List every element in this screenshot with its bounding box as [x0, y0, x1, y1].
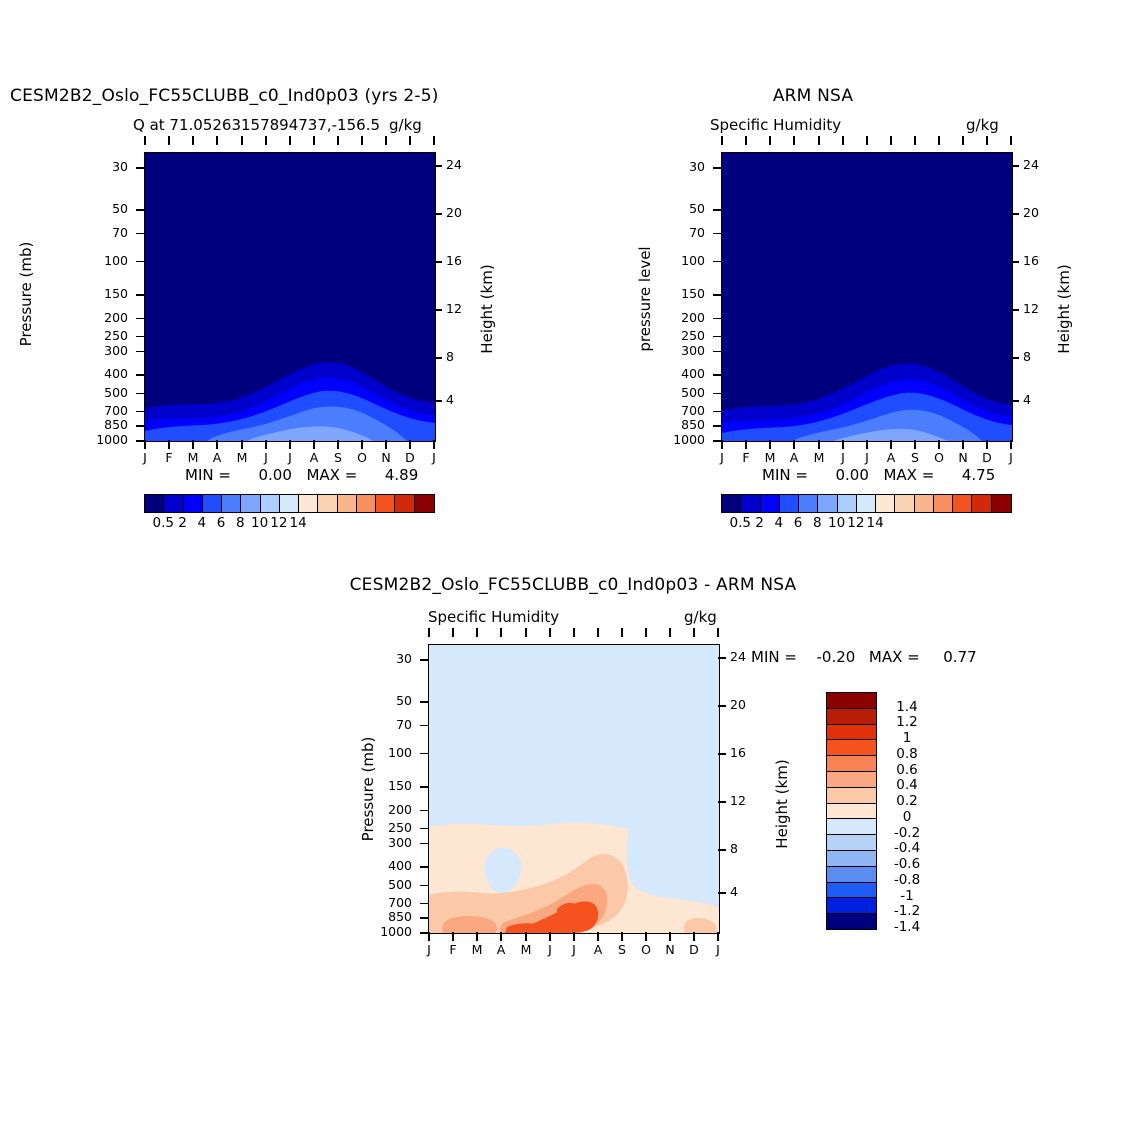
- top-right-plot-area: [721, 152, 1013, 442]
- colorbar-segment: [827, 788, 876, 804]
- colorbar-tick-label: -0.8: [880, 872, 934, 888]
- top-right-max-value: 4.75: [962, 466, 995, 484]
- colorbar-segment: [827, 725, 876, 741]
- difference-plot-area: [428, 644, 720, 934]
- colorbar-segment: [876, 495, 895, 512]
- colorbar-tick-label: -0.4: [880, 840, 934, 856]
- top-left-min-label: MIN =: [185, 466, 231, 484]
- colorbar-segment: [827, 835, 876, 851]
- colorbar-segment: [827, 804, 876, 820]
- colorbar-segment: [338, 495, 357, 512]
- colorbar-segment: [827, 772, 876, 788]
- top-right-ylabel: pressure level: [636, 234, 654, 364]
- top-right-colorbar-segments: [722, 495, 1011, 512]
- colorbar-segment: [780, 495, 799, 512]
- colorbar-tick-label: -1: [880, 888, 934, 904]
- colorbar-tick-label: 0.4: [880, 777, 934, 793]
- top-left-contour-field: [145, 153, 435, 441]
- colorbar-segment: [415, 495, 434, 512]
- top-left-plot-area: [144, 152, 436, 442]
- top-right-subtitle-left: Specific Humidity: [710, 116, 841, 134]
- colorbar-segment: [972, 495, 991, 512]
- colorbar-tick-label: -0.2: [880, 825, 934, 841]
- top-right-max-label: MAX =: [883, 466, 934, 484]
- colorbar-segment: [741, 495, 760, 512]
- top-left-colorbar-segments: [145, 495, 434, 512]
- top-left-title: CESM2B2_Oslo_FC55CLUBB_c0_Ind0p03 (yrs 2…: [10, 86, 439, 106]
- difference-colorbar-segments: [827, 693, 876, 929]
- colorbar-segment: [184, 495, 203, 512]
- difference-contour-field: [429, 645, 719, 933]
- colorbar-segment: [838, 495, 857, 512]
- top-right-subtitle-right: g/kg: [966, 116, 999, 134]
- top-left-subtitle-left: Q at 71.05263157894737,-156.5: [133, 116, 380, 134]
- difference-colorbar[interactable]: [826, 692, 877, 930]
- colorbar-segment: [145, 495, 164, 512]
- top-left-minmax: MIN = 0.00 MAX = 4.89: [185, 466, 418, 484]
- colorbar-segment: [164, 495, 183, 512]
- top-left-subtitle-right: g/kg: [389, 116, 422, 134]
- colorbar-segment: [827, 709, 876, 725]
- colorbar-tick-label: 0.8: [880, 746, 934, 762]
- colorbar-segment: [261, 495, 280, 512]
- top-right-colorbar-labels: 0.52468101214: [721, 515, 1010, 535]
- colorbar-segment: [915, 495, 934, 512]
- colorbar-segment: [299, 495, 318, 512]
- top-left-colorbar-labels: 0.52468101214: [144, 515, 433, 535]
- colorbar-tick-label: 14: [275, 515, 321, 531]
- difference-max-value: 0.77: [943, 648, 976, 666]
- colorbar-segment: [203, 495, 222, 512]
- colorbar-tick-label: 1: [880, 730, 934, 746]
- colorbar-segment: [357, 495, 376, 512]
- colorbar-tick-label: 1.4: [880, 699, 934, 715]
- colorbar-segment: [934, 495, 953, 512]
- top-left-ylabel: Pressure (mb): [17, 234, 35, 354]
- colorbar-segment: [241, 495, 260, 512]
- colorbar-tick-label: 0.2: [880, 793, 934, 809]
- colorbar-segment: [827, 819, 876, 835]
- colorbar-segment: [280, 495, 299, 512]
- colorbar-tick-label: -1.2: [880, 903, 934, 919]
- colorbar-segment: [857, 495, 876, 512]
- colorbar-segment: [895, 495, 914, 512]
- colorbar-segment: [827, 883, 876, 899]
- top-left-min-value: 0.00: [259, 466, 292, 484]
- colorbar-tick-label: 14: [852, 515, 898, 531]
- colorbar-segment: [827, 867, 876, 883]
- top-right-title: ARM NSA: [713, 86, 913, 106]
- top-right-colorbar[interactable]: [721, 494, 1012, 513]
- colorbar-segment: [318, 495, 337, 512]
- difference-subtitle-right: g/kg: [684, 608, 717, 626]
- difference-ylabel-right: Height (km): [773, 749, 791, 859]
- difference-colorbar-labels: 1.41.210.80.60.40.20-0.2-0.4-0.6-0.8-1-1…: [880, 692, 940, 928]
- colorbar-segment: [992, 495, 1011, 512]
- colorbar-tick-label: 1.2: [880, 714, 934, 730]
- colorbar-segment: [827, 898, 876, 914]
- top-right-min-label: MIN =: [762, 466, 808, 484]
- colorbar-segment: [827, 756, 876, 772]
- colorbar-segment: [799, 495, 818, 512]
- colorbar-segment: [818, 495, 837, 512]
- colorbar-segment: [827, 914, 876, 929]
- top-left-max-value: 4.89: [385, 466, 418, 484]
- colorbar-tick-label: -1.4: [880, 919, 934, 935]
- difference-min-label: MIN =: [751, 648, 797, 666]
- top-left-ylabel-right: Height (km): [478, 254, 496, 364]
- colorbar-segment: [722, 495, 741, 512]
- colorbar-segment: [953, 495, 972, 512]
- top-left-colorbar[interactable]: [144, 494, 435, 513]
- colorbar-tick-label: 0.6: [880, 762, 934, 778]
- top-right-minmax: MIN = 0.00 MAX = 4.75: [762, 466, 995, 484]
- difference-min-value: -0.20: [817, 648, 856, 666]
- colorbar-tick-label: -0.6: [880, 856, 934, 872]
- colorbar-segment: [395, 495, 414, 512]
- difference-subtitle-left: Specific Humidity: [428, 608, 559, 626]
- colorbar-tick-label: 0: [880, 809, 934, 825]
- top-right-ylabel-right: Height (km): [1055, 254, 1073, 364]
- colorbar-segment: [827, 693, 876, 709]
- difference-max-label: MAX =: [869, 648, 920, 666]
- difference-title: CESM2B2_Oslo_FC55CLUBB_c0_Ind0p03 - ARM …: [223, 575, 923, 595]
- top-left-max-label: MAX =: [306, 466, 357, 484]
- colorbar-segment: [376, 495, 395, 512]
- top-right-contour-field: [722, 153, 1012, 441]
- top-right-min-value: 0.00: [836, 466, 869, 484]
- colorbar-segment: [827, 740, 876, 756]
- colorbar-segment: [827, 851, 876, 867]
- difference-minmax: MIN = -0.20 MAX = 0.77: [751, 648, 977, 666]
- colorbar-segment: [222, 495, 241, 512]
- colorbar-segment: [761, 495, 780, 512]
